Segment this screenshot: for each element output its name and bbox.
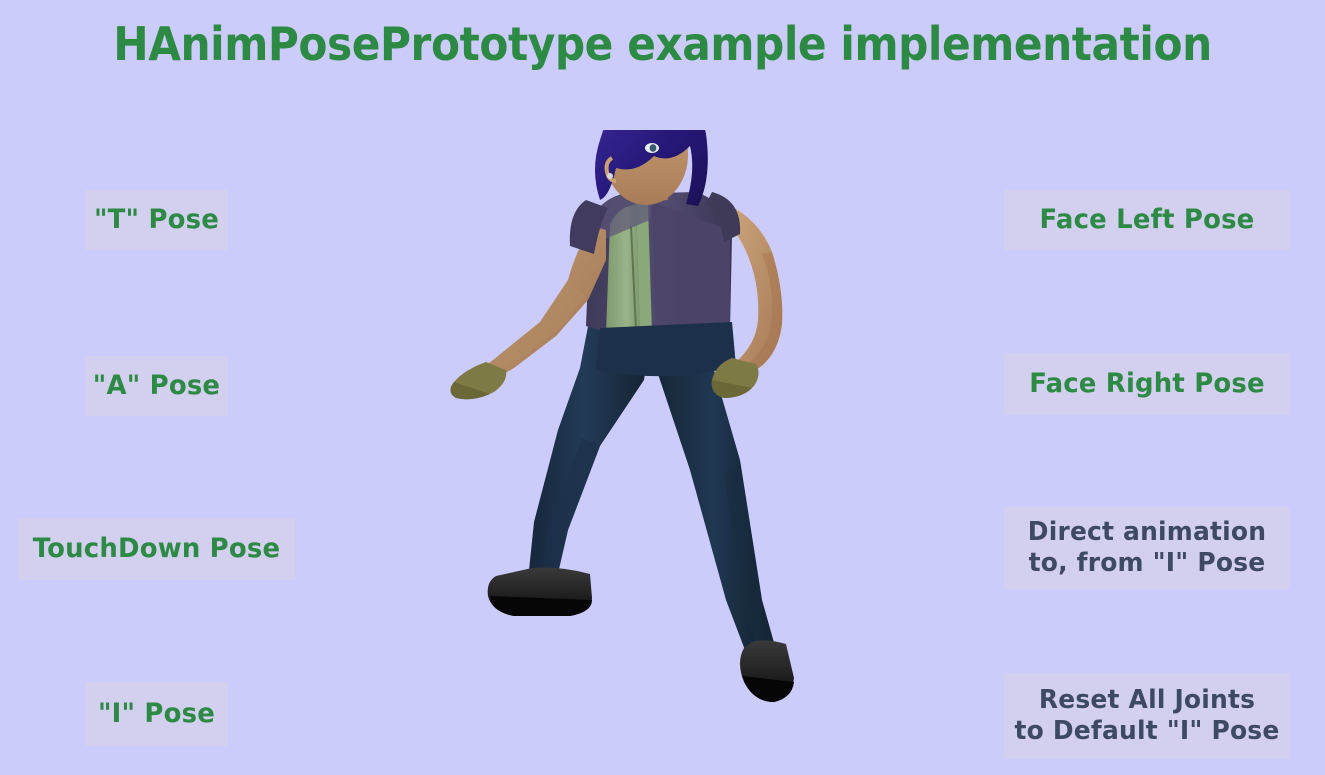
face-left-pose-button[interactable]: Face Left Pose: [1004, 190, 1290, 250]
direct-animation-button[interactable]: Direct animation to, from "I" Pose: [1004, 507, 1290, 589]
page-title: HAnimPosePrototype example implementatio…: [53, 20, 1272, 68]
application-window: HAnimPosePrototype example implementatio…: [0, 0, 1325, 775]
face-right-pose-button[interactable]: Face Right Pose: [1004, 353, 1290, 415]
a-pose-button[interactable]: "A" Pose: [85, 356, 228, 416]
avatar-torso: [586, 192, 736, 376]
reset-all-joints-button[interactable]: Reset All Joints to Default "I" Pose: [1004, 673, 1290, 759]
touchdown-pose-button[interactable]: TouchDown Pose: [18, 518, 295, 580]
i-pose-button[interactable]: "I" Pose: [85, 682, 228, 746]
avatar-right-shoe: [740, 640, 794, 702]
t-pose-button[interactable]: "T" Pose: [85, 190, 228, 250]
avatar-head: [595, 130, 708, 206]
humanoid-avatar-viewport[interactable]: [440, 130, 860, 710]
avatar-left-shoe: [488, 568, 592, 616]
